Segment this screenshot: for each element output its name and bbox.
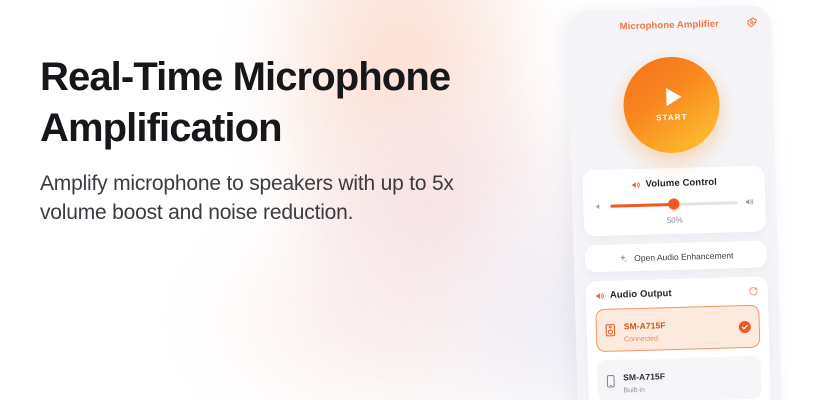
speaker-device-icon	[605, 324, 616, 337]
volume-card-title: Volume Control	[645, 177, 717, 190]
volume-slider[interactable]	[610, 201, 737, 208]
page-title: Real-Time Microphone Amplification	[40, 52, 520, 154]
audio-device-row[interactable]: SM-A715F Connected	[595, 305, 760, 353]
volume-value-label: 50%	[595, 214, 755, 227]
audio-device-name: SM-A715F	[623, 371, 665, 382]
start-button[interactable]: START	[622, 56, 721, 155]
phone-mockup: Microphone Amplifier START	[567, 5, 782, 400]
volume-high-icon	[744, 197, 754, 207]
audio-device-text: SM-A715F Connected	[623, 313, 731, 343]
audio-output-title: Audio Output	[610, 288, 672, 301]
play-icon	[666, 88, 681, 106]
app-header: Microphone Amplifier	[578, 5, 761, 44]
promo-banner: Real-Time Microphone Amplification Ampli…	[0, 0, 819, 400]
audio-output-header: Audio Output	[595, 286, 759, 302]
audio-device-row[interactable]: SM-A715F Built-in	[597, 356, 762, 400]
check-icon	[739, 320, 751, 332]
start-button-label: START	[656, 113, 688, 123]
phone-icon	[606, 375, 615, 388]
volume-slider-fill	[610, 202, 674, 207]
open-audio-enhancement-label: Open Audio Enhancement	[634, 250, 733, 263]
app-title: Microphone Amplifier	[620, 18, 720, 32]
audio-output-card: Audio Output	[585, 276, 771, 400]
speaker-icon	[595, 290, 605, 300]
page-subtitle: Amplify microphone to speakers with up t…	[40, 170, 520, 227]
sparkle-icon	[618, 253, 628, 263]
audio-device-status: Built-in	[623, 384, 752, 395]
audio-device-status: Connected	[624, 333, 731, 343]
volume-slider-row	[594, 197, 754, 211]
hero-copy: Real-Time Microphone Amplification Ampli…	[40, 52, 520, 227]
audio-device-name: SM-A715F	[624, 320, 666, 331]
audio-output-title-group: Audio Output	[595, 288, 672, 301]
volume-slider-thumb[interactable]	[668, 198, 679, 209]
start-button-area: START	[579, 39, 764, 170]
volume-control-card: Volume Control	[582, 165, 766, 236]
open-audio-enhancement-button[interactable]: Open Audio Enhancement	[584, 240, 767, 272]
refresh-icon[interactable]	[748, 286, 759, 297]
speaker-icon	[630, 179, 640, 189]
volume-low-icon	[594, 201, 603, 210]
gear-icon[interactable]	[746, 17, 757, 28]
background-blob-rose	[180, 200, 510, 400]
volume-card-header: Volume Control	[594, 176, 754, 191]
audio-device-text: SM-A715F Built-in	[623, 364, 753, 395]
